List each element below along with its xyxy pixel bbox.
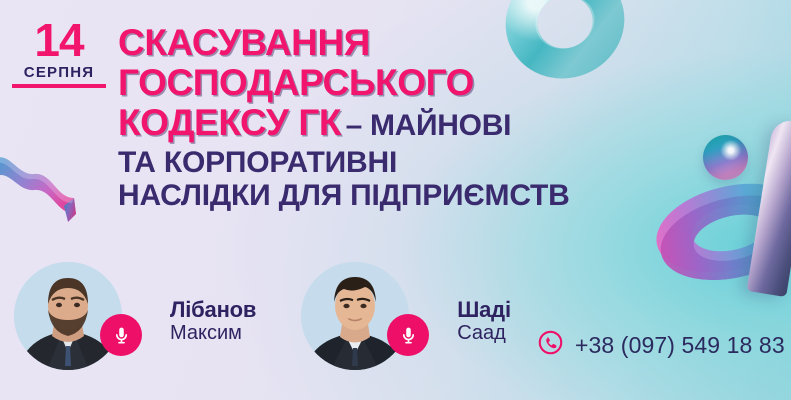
headline-line-1: СКАСУВАННЯ	[118, 24, 678, 61]
date-day: 14	[12, 18, 106, 62]
headline-line-2: ГОСПОДАРСЬКОГО	[118, 64, 678, 101]
gradient-sphere-icon	[703, 135, 748, 180]
headline-line-5: НАСЛІДКИ ДЛЯ ПІДПРИЄМСТВ	[118, 181, 678, 211]
avatar	[14, 262, 122, 370]
date-month: СЕРПНЯ	[12, 64, 106, 81]
avatar	[301, 262, 409, 370]
contact-phone[interactable]: +38 (097) 549 18 83	[538, 330, 785, 360]
speaker-name: Шаді Саад	[457, 298, 511, 370]
speaker-item: Лібанов Максим	[14, 262, 256, 370]
phone-number: +38 (097) 549 18 83	[575, 332, 785, 359]
date-underline	[12, 84, 106, 88]
microphone-icon	[387, 314, 429, 356]
speaker-name: Лібанов Максим	[170, 298, 256, 370]
speaker-first-name: Саад	[457, 322, 511, 344]
webinar-banner: 14 СЕРПНЯ СКАСУВАННЯ ГОСПОДАРСЬКОГО КОДЕ…	[0, 0, 791, 400]
event-date: 14 СЕРПНЯ	[12, 18, 106, 88]
headline: СКАСУВАННЯ ГОСПОДАРСЬКОГО КОДЕКСУ ГК – М…	[118, 24, 678, 214]
headline-line-3-dark: – МАЙНОВІ	[346, 109, 512, 142]
gradient-cylinder-icon	[747, 118, 791, 297]
speaker-last-name: Лібанов	[170, 298, 256, 322]
headline-line-4: ТА КОРПОРАТИВНІ	[118, 148, 678, 178]
speaker-item: Шаді Саад	[301, 262, 511, 370]
wavy-ribbon-icon	[0, 148, 94, 234]
speaker-last-name: Шаді	[457, 298, 511, 322]
speaker-first-name: Максим	[170, 322, 256, 344]
microphone-icon	[100, 314, 142, 356]
speakers-list: Лібанов Максим	[14, 262, 511, 370]
headline-line-3-accent: КОДЕКСУ ГК	[118, 102, 341, 143]
phone-circle-icon	[538, 330, 563, 360]
headline-line-3: КОДЕКСУ ГК – МАЙНОВІ	[118, 104, 678, 141]
